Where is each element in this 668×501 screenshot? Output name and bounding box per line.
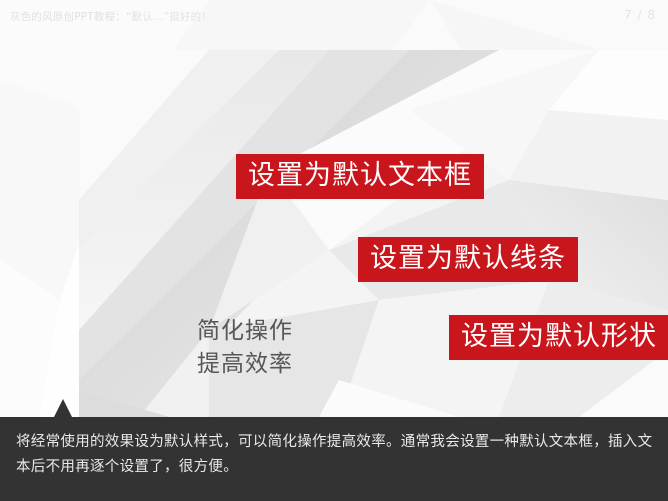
caption-pointer-triangle: [54, 399, 72, 417]
callout-default-textbox[interactable]: 设置为默认文本框: [236, 154, 484, 199]
benefits-text-block: 简化操作 提高效率: [197, 315, 293, 382]
callout-default-line[interactable]: 设置为默认线条: [358, 237, 578, 282]
page-title: 灰色的风原创PPT教程：“默认...”挺好的！: [10, 9, 212, 24]
slide-page: 灰色的风原创PPT教程：“默认...”挺好的！ 7 / 8: [0, 0, 668, 501]
benefit-line-2: 提高效率: [197, 348, 293, 381]
benefit-line-1: 简化操作: [197, 315, 293, 348]
slide-content-panel: 设置为默认文本框 设置为默认线条 设置为默认形状 简化操作 提高效率: [79, 50, 668, 417]
page-counter: 7 / 8: [624, 8, 656, 22]
callout-default-shape[interactable]: 设置为默认形状: [449, 315, 668, 360]
slide-background-polygons: [79, 50, 668, 417]
header-bar: 灰色的风原创PPT教程：“默认...”挺好的！ 7 / 8: [0, 0, 668, 30]
caption-bar: 将经常使用的效果设为默认样式，可以简化操作提高效率。通常我会设置一种默认文本框，…: [0, 417, 668, 501]
caption-text: 将经常使用的效果设为默认样式，可以简化操作提高效率。通常我会设置一种默认文本框，…: [16, 430, 656, 481]
